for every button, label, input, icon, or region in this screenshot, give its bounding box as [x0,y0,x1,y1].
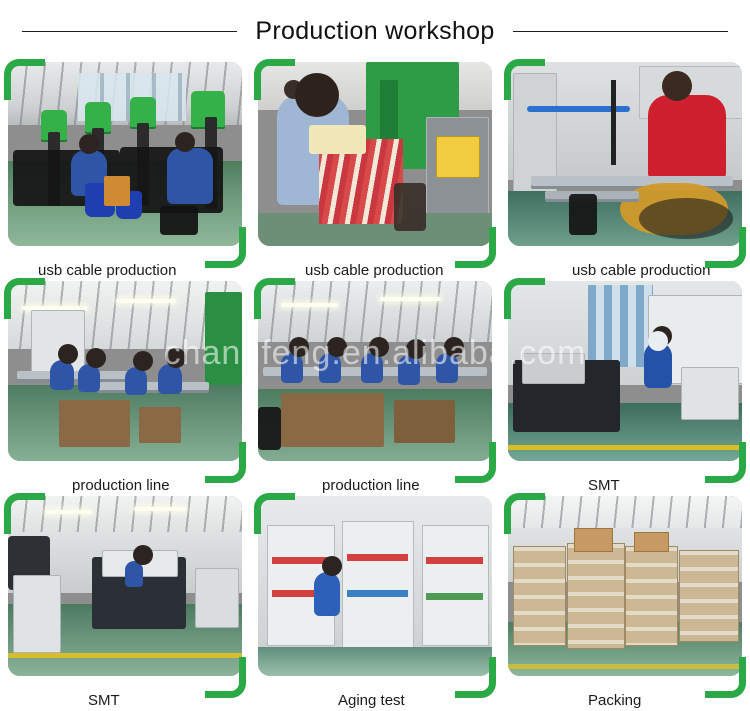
gallery-row: production line [0,281,750,496]
gallery-row: usb cable production [0,62,750,281]
gallery-cell-aging-test[interactable]: Aging test [250,496,500,711]
photo-frame [254,281,496,463]
photo-scene [8,281,242,461]
photo-scene [258,281,492,461]
photo-usb-cable-production-1[interactable] [8,62,242,246]
photo-scene [8,496,242,676]
photo-smt-1[interactable] [508,281,742,461]
page-header: Production workshop [0,0,750,62]
photo-packing[interactable] [508,496,742,676]
caption-production-line-1: production line [0,463,250,496]
photo-frame [254,496,496,678]
photo-smt-2[interactable] [8,496,242,676]
caption-usb-cable-production-1: usb cable production [0,248,250,281]
photo-frame [4,62,246,248]
caption-aging-test: Aging test [250,678,500,711]
gallery-grid: usb cable production [0,62,750,711]
photo-scene [508,62,742,246]
photo-scene [508,281,742,461]
photo-frame [504,281,746,463]
photo-production-line-1[interactable] [8,281,242,461]
photo-usb-cable-production-3[interactable] [508,62,742,246]
photo-frame [254,62,496,248]
caption-smt-1: SMT [500,463,750,496]
gallery-cell-production-line-2[interactable]: production line [250,281,500,496]
gallery-row: SMT [0,496,750,711]
caption-usb-cable-production-2: usb cable production [250,248,500,281]
page-title: Production workshop [255,17,494,46]
header-rule-right [513,31,728,32]
gallery-cell-usb-cable-production-2[interactable]: usb cable production [250,62,500,281]
gallery-cell-production-line-1[interactable]: production line [0,281,250,496]
gallery-cell-packing[interactable]: Packing [500,496,750,711]
caption-packing: Packing [500,678,750,711]
caption-usb-cable-production-3: usb cable production [500,248,750,281]
photo-aging-test[interactable] [258,496,492,676]
gallery-cell-usb-cable-production-1[interactable]: usb cable production [0,62,250,281]
photo-frame [504,62,746,248]
photo-usb-cable-production-2[interactable] [258,62,492,246]
photo-scene [258,496,492,676]
gallery-cell-usb-cable-production-3[interactable]: usb cable production [500,62,750,281]
gallery-cell-smt-2[interactable]: SMT [0,496,250,711]
photo-frame [4,496,246,678]
photo-scene [508,496,742,676]
caption-smt-2: SMT [0,678,250,711]
gallery-cell-smt-1[interactable]: SMT [500,281,750,496]
photo-production-line-2[interactable] [258,281,492,461]
photo-scene [8,62,242,246]
photo-frame [4,281,246,463]
caption-production-line-2: production line [250,463,500,496]
header-rule-left [22,31,237,32]
photo-scene [258,62,492,246]
photo-frame [504,496,746,678]
